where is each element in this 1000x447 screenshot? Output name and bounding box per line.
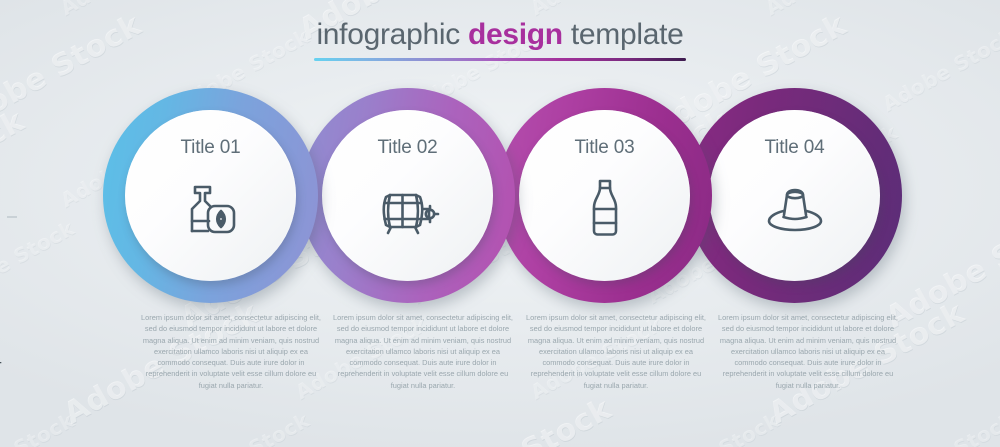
- step-node-3[interactable]: Title 03: [497, 88, 712, 303]
- oktoberfest-hat-icon: [758, 171, 832, 245]
- description-column-1: Lorem ipsum dolor sit amet, consectetur …: [138, 312, 324, 391]
- description-text-3: Lorem ipsum dolor sit amet, consectetur …: [523, 312, 709, 391]
- step-inner-disc-4: Title 04: [709, 110, 880, 281]
- description-column-row: Lorem ipsum dolor sit amet, consectetur …: [0, 312, 1000, 422]
- title-word-accent: design: [468, 18, 563, 51]
- header: infographic design template: [0, 19, 1000, 61]
- step-inner-disc-2: Title 02: [322, 110, 493, 281]
- brewing-kettle-hop-icon: [174, 171, 248, 245]
- description-column-2: Lorem ipsum dolor sit amet, consectetur …: [330, 312, 516, 391]
- step-title-2: Title 02: [377, 137, 437, 159]
- step-node-4[interactable]: Title 04: [687, 88, 902, 303]
- step-node-1[interactable]: Title 01: [103, 88, 318, 303]
- stock-credit-label: Adobe Stock | #503833910: [0, 284, 2, 441]
- step-circle-row: Title 01 Title 02: [0, 88, 1000, 303]
- step-title-1: Title 01: [180, 137, 240, 159]
- description-text-1: Lorem ipsum dolor sit amet, consectetur …: [138, 312, 324, 391]
- step-title-3: Title 03: [574, 137, 634, 159]
- watermark-text: Adobe Stock: [526, 0, 666, 20]
- step-node-2[interactable]: Title 02: [300, 88, 515, 303]
- credit-tick: [7, 216, 17, 218]
- step-inner-disc-1: Title 01: [125, 110, 296, 281]
- description-column-4: Lorem ipsum dolor sit amet, consectetur …: [715, 312, 901, 391]
- page-title: infographic design template: [0, 19, 1000, 51]
- title-word-2: template: [571, 18, 684, 51]
- title-word-1: infographic: [316, 18, 459, 51]
- watermark-text: Adobe Stock: [761, 0, 901, 20]
- description-text-4: Lorem ipsum dolor sit amet, consectetur …: [715, 312, 901, 391]
- wooden-barrel-tap-icon: [371, 171, 445, 245]
- watermark-text: Adobe Stock: [56, 0, 196, 20]
- beer-bottle-icon: [568, 171, 642, 245]
- title-underline-rule: [314, 58, 686, 61]
- step-title-4: Title 04: [764, 137, 824, 159]
- description-text-2: Lorem ipsum dolor sit amet, consectetur …: [330, 312, 516, 391]
- step-inner-disc-3: Title 03: [519, 110, 690, 281]
- infographic-canvas: Adobe StockAdobe StockAdobe StockAdobe S…: [0, 0, 1000, 447]
- description-column-3: Lorem ipsum dolor sit amet, consectetur …: [523, 312, 709, 391]
